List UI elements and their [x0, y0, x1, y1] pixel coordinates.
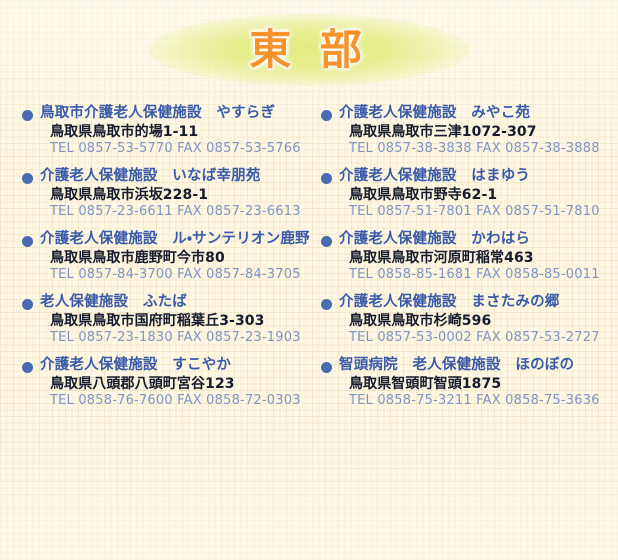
- facility-entry: 介護老人保健施設 すこやか鳥取県八頭郡八頭町宮谷123TEL 0858-76-7…: [18, 352, 318, 415]
- facility-entry: 介護老人保健施設 みやこ苑鳥取県鳥取市三津1072-307TEL 0857-38…: [317, 100, 617, 163]
- bullet-icon: [321, 110, 332, 121]
- facility-name: 介護老人保健施設 まさたみの郷: [339, 289, 617, 311]
- facility-name: 介護老人保健施設 ル・サンテリオン鹿野: [40, 226, 318, 248]
- facility-name: 介護老人保健施設 すこやか: [40, 352, 318, 374]
- page-title: 東 部: [0, 10, 618, 90]
- facility-contact: TEL 0857-53-5770 FAX 0857-53-5766: [50, 141, 318, 157]
- facility-address: 鳥取県鳥取市的場1-11: [50, 124, 318, 141]
- facility-address: 鳥取県智頭町智頭1875: [349, 376, 617, 393]
- facility-entry: 介護老人保健施設 いなば幸朋苑鳥取県鳥取市浜坂228-1TEL 0857-23-…: [18, 163, 318, 226]
- facility-entry: 智頭病院 老人保健施設 ほのぼの鳥取県智頭町智頭1875TEL 0858-75-…: [317, 352, 617, 415]
- facility-address: 鳥取県鳥取市国府町稲葉丘3-303: [50, 313, 318, 330]
- facility-address: 鳥取県鳥取市杉崎596: [349, 313, 617, 330]
- facility-address: 鳥取県鳥取市河原町稲常463: [349, 250, 617, 267]
- facility-entry: 介護老人保健施設 ル・サンテリオン鹿野鳥取県鳥取市鹿野町今市80TEL 0857…: [18, 226, 318, 289]
- bullet-icon: [22, 299, 33, 310]
- facility-entry: 介護老人保健施設 かわはら鳥取県鳥取市河原町稲常463TEL 0858-85-1…: [317, 226, 617, 289]
- facility-name: 鳥取市介護老人保健施設 やすらぎ: [40, 100, 318, 122]
- facility-name: 介護老人保健施設 みやこ苑: [339, 100, 617, 122]
- facility-name: 智頭病院 老人保健施設 ほのぼの: [339, 352, 617, 374]
- bullet-icon: [22, 362, 33, 373]
- facility-contact: TEL 0858-85-1681 FAX 0858-85-0011: [349, 267, 617, 283]
- bullet-icon: [22, 110, 33, 121]
- facility-column-left: 鳥取市介護老人保健施設 やすらぎ鳥取県鳥取市的場1-11TEL 0857-53-…: [18, 100, 318, 415]
- facility-name: 介護老人保健施設 はまゆう: [339, 163, 617, 185]
- facility-contact: TEL 0857-51-7801 FAX 0857-51-7810: [349, 204, 617, 220]
- facility-address: 鳥取県八頭郡八頭町宮谷123: [50, 376, 318, 393]
- facility-contact: TEL 0857-23-6611 FAX 0857-23-6613: [50, 204, 318, 220]
- facility-name: 介護老人保健施設 いなば幸朋苑: [40, 163, 318, 185]
- facility-address: 鳥取県鳥取市鹿野町今市80: [50, 250, 318, 267]
- bullet-icon: [22, 236, 33, 247]
- facility-name: 介護老人保健施設 かわはら: [339, 226, 617, 248]
- bullet-icon: [22, 173, 33, 184]
- bullet-icon: [321, 362, 332, 373]
- facility-entry: 鳥取市介護老人保健施設 やすらぎ鳥取県鳥取市的場1-11TEL 0857-53-…: [18, 100, 318, 163]
- bullet-icon: [321, 173, 332, 184]
- facility-contact: TEL 0857-84-3700 FAX 0857-84-3705: [50, 267, 318, 283]
- facility-column-right: 介護老人保健施設 みやこ苑鳥取県鳥取市三津1072-307TEL 0857-38…: [317, 100, 617, 415]
- facility-contact: TEL 0858-75-3211 FAX 0858-75-3636: [349, 393, 617, 409]
- facility-name: 老人保健施設 ふたば: [40, 289, 318, 311]
- bullet-icon: [321, 299, 332, 310]
- facility-address: 鳥取県鳥取市野寺62-1: [349, 187, 617, 204]
- facility-address: 鳥取県鳥取市浜坂228-1: [50, 187, 318, 204]
- bullet-icon: [321, 236, 332, 247]
- facility-entry: 老人保健施設 ふたば鳥取県鳥取市国府町稲葉丘3-303TEL 0857-23-1…: [18, 289, 318, 352]
- page-title-block: 東 部: [0, 10, 618, 90]
- facility-entry: 介護老人保健施設 はまゆう鳥取県鳥取市野寺62-1TEL 0857-51-780…: [317, 163, 617, 226]
- facility-contact: TEL 0858-76-7600 FAX 0858-72-0303: [50, 393, 318, 409]
- facility-contact: TEL 0857-53-0002 FAX 0857-53-2727: [349, 330, 617, 346]
- facility-contact: TEL 0857-38-3838 FAX 0857-38-3888: [349, 141, 617, 157]
- facility-entry: 介護老人保健施設 まさたみの郷鳥取県鳥取市杉崎596TEL 0857-53-00…: [317, 289, 617, 352]
- facility-contact: TEL 0857-23-1830 FAX 0857-23-1903: [50, 330, 318, 346]
- facility-address: 鳥取県鳥取市三津1072-307: [349, 124, 617, 141]
